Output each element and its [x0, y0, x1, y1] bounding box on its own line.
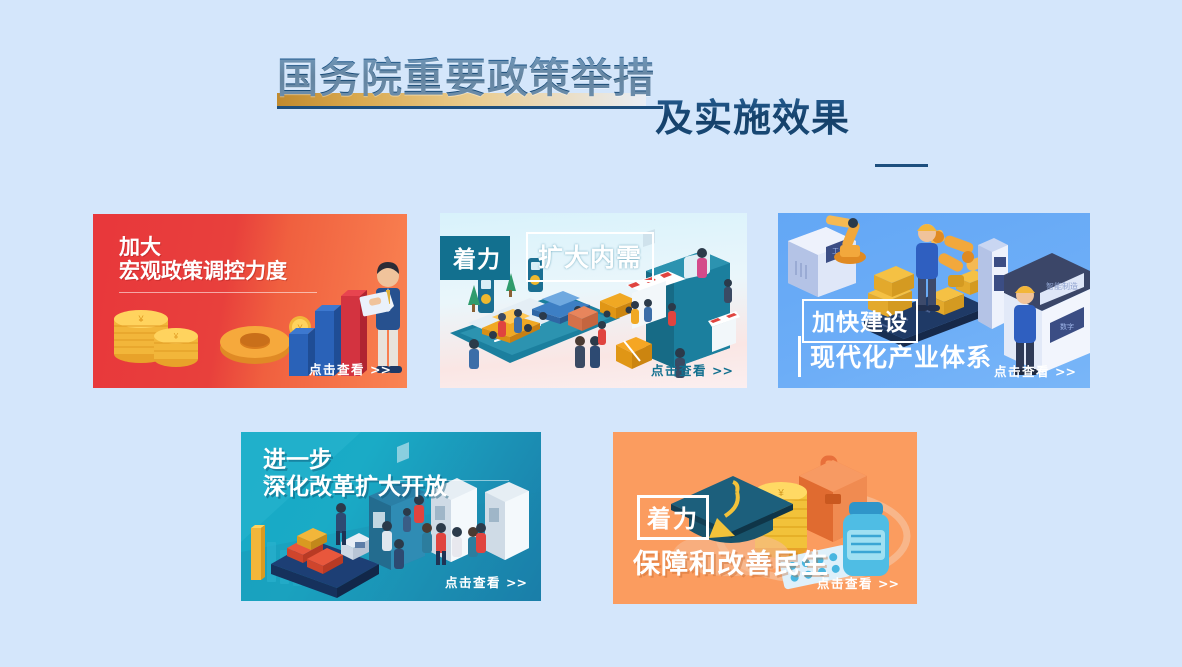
card-macro-policy[interactable]: ¥ ¥ ¥	[93, 214, 407, 388]
card-livelihood-cta[interactable]: 点击查看 >>	[817, 573, 899, 592]
card-expand-demand[interactable]: 着力 扩大内需 点击查看 >>	[440, 213, 747, 388]
card-reform-opening-title: 进一步 深化改革扩大开放	[263, 446, 447, 499]
card-macro-policy-cta[interactable]: 点击查看 >>	[309, 359, 391, 378]
svg-text:数字: 数字	[1060, 322, 1074, 331]
chevron-right-icon: >>	[370, 362, 391, 377]
title-trailing-dash	[875, 164, 928, 167]
svg-text:¥: ¥	[137, 314, 144, 324]
card-macro-policy-title: 加大 宏观政策调控力度	[119, 236, 287, 285]
card-title-line-2: 深化改革扩大开放	[263, 473, 447, 500]
card-modern-industry-cta[interactable]: 点击查看 >>	[994, 361, 1076, 380]
card-title-line-1: 加快建设	[812, 309, 908, 335]
cta-label: 点击查看	[817, 577, 873, 591]
card-modern-industry[interactable]: 工业	[778, 213, 1090, 388]
chevron-right-icon: >>	[506, 575, 527, 590]
card-expand-demand-title-1: 着力	[440, 236, 510, 280]
card-reform-opening-cta[interactable]: 点击查看 >>	[445, 572, 527, 591]
page-title-line-1: 国务院重要政策举措	[277, 44, 655, 104]
cta-label: 点击查看	[445, 576, 501, 590]
card-livelihood-title-2: 保障和改善民生	[633, 542, 829, 581]
cta-label: 点击查看	[309, 363, 365, 377]
card-title-line-2: 宏观政策调控力度	[119, 260, 287, 284]
card-title-rule	[119, 292, 317, 293]
chevron-right-icon: >>	[712, 363, 733, 378]
card-livelihood-title-1: 着力	[637, 495, 709, 540]
svg-text:智能制造: 智能制造	[1046, 281, 1078, 291]
card-modern-industry-title-2: 现代化产业体系	[798, 336, 1000, 377]
card-reform-opening[interactable]: 进一步 深化改革扩大开放 点击查看 >>	[241, 432, 541, 601]
card-title-line-2: 扩大内需	[538, 244, 642, 272]
page-title-block: 国务院重要政策举措 及实施效果	[0, 44, 1182, 154]
cta-label: 点击查看	[651, 364, 707, 378]
card-title-line-2: 现代化产业体系	[810, 344, 992, 372]
chevron-right-icon: >>	[1055, 364, 1076, 379]
svg-text:¥: ¥	[173, 332, 179, 341]
chevron-right-icon: >>	[878, 576, 899, 591]
card-livelihood[interactable]: ¥	[613, 432, 917, 604]
card-title-line-1: 进一步	[263, 446, 447, 473]
title-blue-rule	[277, 106, 663, 109]
card-title-line-1: 着力	[647, 506, 699, 533]
card-expand-demand-cta[interactable]: 点击查看 >>	[651, 360, 733, 379]
card-title-line-2: 保障和改善民生	[633, 549, 829, 579]
cta-label: 点击查看	[994, 365, 1050, 379]
card-title-line-1: 加大	[119, 236, 287, 260]
card-expand-demand-title-2: 扩大内需	[526, 232, 654, 282]
page-title-line-2: 及实施效果	[655, 87, 850, 142]
card-title-line-1: 着力	[453, 246, 501, 272]
